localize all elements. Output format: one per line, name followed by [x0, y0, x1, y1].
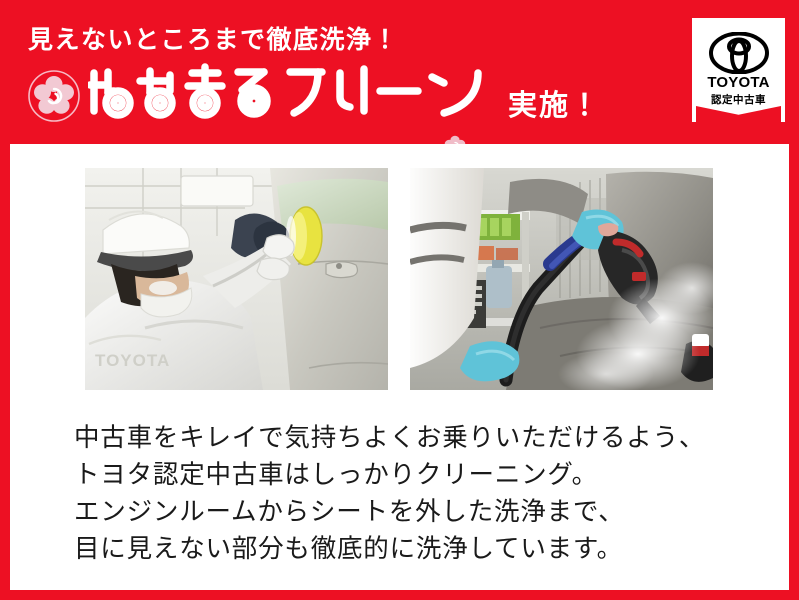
toyota-badge-inner: TOYOTA 認定中古車	[696, 22, 781, 118]
body-copy: 中古車をキレイで気持ちよくお乗りいただけるよう、 トヨタ認定中古車はしっかりクリ…	[74, 420, 774, 568]
copy-line-4: 目に見えない部分も徹底的に洗浄しています。	[74, 531, 774, 568]
svg-text:TOYOTA: TOYOTA	[95, 351, 170, 370]
toyota-wordmark: TOYOTA	[696, 74, 781, 91]
brand-wordmark-lettering	[88, 59, 492, 125]
copy-line-1: 中古車をキレイで気持ちよくお乗りいただけるよう、	[74, 420, 774, 457]
copy-line-3: エンジンルームからシートを外した洗浄まで、	[74, 494, 774, 531]
toyota-emblem-icon	[709, 32, 769, 78]
content-panel: TOYOTA	[10, 144, 789, 590]
toyota-certified-subtitle: 認定中古車	[696, 92, 781, 107]
headline-text: 見えないところまで徹底洗浄！	[28, 27, 399, 52]
header-banner: 見えないところまで徹底洗浄！	[0, 0, 799, 136]
copy-line-2: トヨタ認定中古車はしっかりクリーニング。	[74, 457, 774, 494]
flower-accent-icon	[442, 117, 468, 143]
brand-logo-row: 実施！	[26, 62, 601, 130]
brand-wordmark	[88, 59, 492, 133]
promotional-poster: 見えないところまで徹底洗浄！	[0, 0, 799, 600]
photo-steam-cleaning	[410, 168, 713, 390]
implementation-label: 実施！	[508, 82, 601, 130]
photo-polishing: TOYOTA	[85, 168, 388, 390]
flower-icon	[26, 68, 82, 124]
toyota-certified-badge: TOYOTA 認定中古車	[692, 18, 785, 122]
